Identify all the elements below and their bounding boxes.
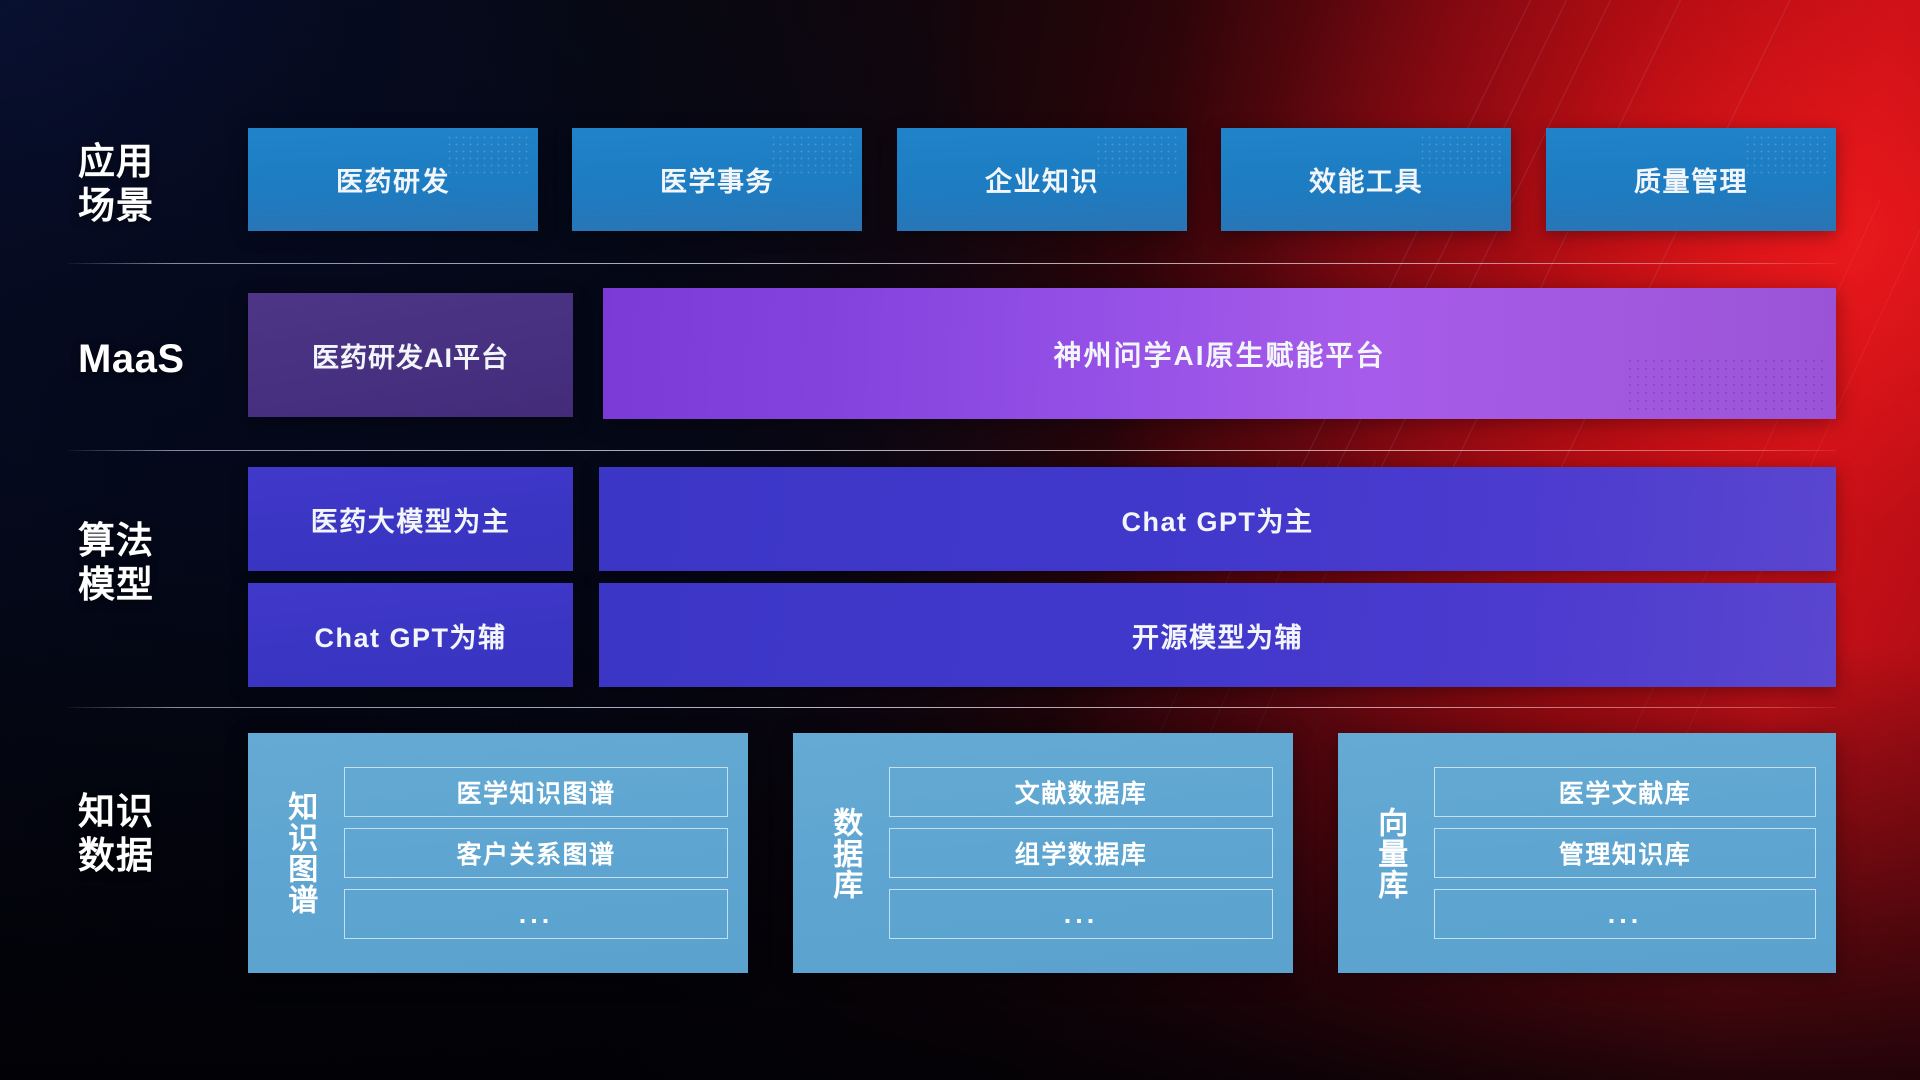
knowledge-item[interactable]: 管理知识库 xyxy=(1434,828,1816,878)
knowledge-item[interactable]: 文献数据库 xyxy=(889,767,1273,817)
app-box-quality-management[interactable]: 质量管理 xyxy=(1546,128,1836,231)
knowledge-group-label: 知识图谱 xyxy=(262,791,336,915)
app-box-label: 效能工具 xyxy=(1309,160,1423,199)
dot-texture xyxy=(1095,134,1181,174)
app-box-label: 企业知识 xyxy=(985,160,1099,199)
app-box-medicine-rnd[interactable]: 医药研发 xyxy=(248,128,538,231)
maas-box-label: 医药研发AI平台 xyxy=(312,336,509,375)
knowledge-item[interactable]: 组学数据库 xyxy=(889,828,1273,878)
dot-texture xyxy=(1419,134,1505,174)
knowledge-item[interactable]: 客户关系图谱 xyxy=(344,828,728,878)
row-divider-1 xyxy=(68,263,1836,264)
dot-texture xyxy=(1744,134,1830,174)
knowledge-group-database[interactable]: 数据库 文献数据库 组学数据库 ... xyxy=(793,733,1293,973)
row-label-algorithm-model: 算法 模型 xyxy=(78,519,208,606)
maas-box-label: 神州问学AI原生赋能平台 xyxy=(1053,334,1385,374)
knowledge-item[interactable]: 医学知识图谱 xyxy=(344,767,728,817)
dot-texture xyxy=(1626,357,1826,411)
algo-box-label: 开源模型为辅 xyxy=(1132,616,1303,655)
knowledge-item-more[interactable]: ... xyxy=(889,889,1273,939)
app-box-label: 质量管理 xyxy=(1634,160,1748,199)
algo-box-pharma-llm-primary[interactable]: 医药大模型为主 xyxy=(248,467,573,571)
app-box-label: 医学事务 xyxy=(660,160,774,199)
algo-box-opensource-secondary[interactable]: 开源模型为辅 xyxy=(599,583,1836,687)
app-box-efficiency-tools[interactable]: 效能工具 xyxy=(1221,128,1511,231)
knowledge-group-label: 数据库 xyxy=(807,807,881,900)
algo-box-label: Chat GPT为辅 xyxy=(314,616,506,655)
knowledge-group-items: 医学文献库 管理知识库 ... xyxy=(1426,753,1836,953)
architecture-grid: 应用 场景 医药研发 医学事务 企业知识 效能工具 质量管理 MaaS 医药研发… xyxy=(0,0,1920,1080)
algo-box-chatgpt-secondary[interactable]: Chat GPT为辅 xyxy=(248,583,573,687)
knowledge-group-knowledge-graph[interactable]: 知识图谱 医学知识图谱 客户关系图谱 ... xyxy=(248,733,748,973)
algo-box-chatgpt-primary[interactable]: Chat GPT为主 xyxy=(599,467,1836,571)
app-box-medical-affairs[interactable]: 医学事务 xyxy=(572,128,862,231)
app-box-label: 医药研发 xyxy=(336,160,450,199)
row-divider-3 xyxy=(68,707,1836,708)
diagram-canvas: 应用 场景 医药研发 医学事务 企业知识 效能工具 质量管理 MaaS 医药研发… xyxy=(0,0,1920,1080)
row-label-knowledge-data: 知识 数据 xyxy=(78,790,208,877)
knowledge-group-label: 向量库 xyxy=(1352,807,1426,900)
dot-texture xyxy=(770,134,856,174)
knowledge-group-items: 文献数据库 组学数据库 ... xyxy=(881,753,1293,953)
maas-box-pharma-ai-platform[interactable]: 医药研发AI平台 xyxy=(248,293,573,417)
knowledge-item-more[interactable]: ... xyxy=(344,889,728,939)
row-label-maas: MaaS xyxy=(78,336,208,383)
knowledge-item[interactable]: 医学文献库 xyxy=(1434,767,1816,817)
algo-box-label: 医药大模型为主 xyxy=(311,500,511,539)
row-label-application-scenarios: 应用 场景 xyxy=(78,140,208,227)
app-box-enterprise-knowledge[interactable]: 企业知识 xyxy=(897,128,1187,231)
knowledge-group-vector-store[interactable]: 向量库 医学文献库 管理知识库 ... xyxy=(1338,733,1836,973)
algo-box-label: Chat GPT为主 xyxy=(1121,500,1313,539)
row-divider-2 xyxy=(68,450,1836,451)
maas-box-shenzhou-wenxue-platform[interactable]: 神州问学AI原生赋能平台 xyxy=(603,288,1836,419)
dot-texture xyxy=(446,134,532,174)
knowledge-group-items: 医学知识图谱 客户关系图谱 ... xyxy=(336,753,748,953)
knowledge-item-more[interactable]: ... xyxy=(1434,889,1816,939)
